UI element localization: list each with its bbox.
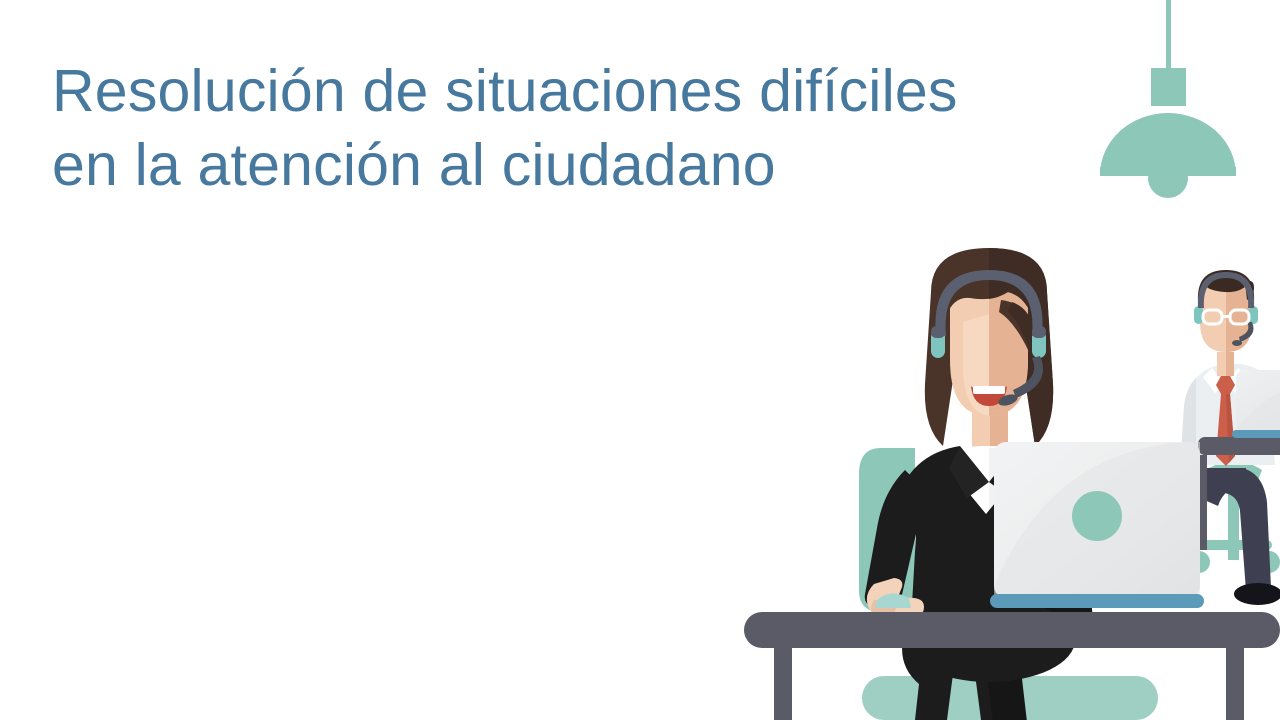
woman-laptop-base xyxy=(990,594,1204,608)
pendant-lamp-icon xyxy=(1100,0,1236,198)
woman-laptop xyxy=(990,442,1204,608)
title-line-2: en la atención al ciudadano xyxy=(52,128,1062,202)
slide-canvas: Resolución de situaciones difíciles en l… xyxy=(0,0,1280,720)
man-laptop xyxy=(1232,370,1280,438)
slide-title: Resolución de situaciones difíciles en l… xyxy=(52,54,1062,202)
title-line-1: Resolución de situaciones difíciles xyxy=(52,54,1062,128)
woman-laptop-logo-icon xyxy=(1072,491,1122,541)
